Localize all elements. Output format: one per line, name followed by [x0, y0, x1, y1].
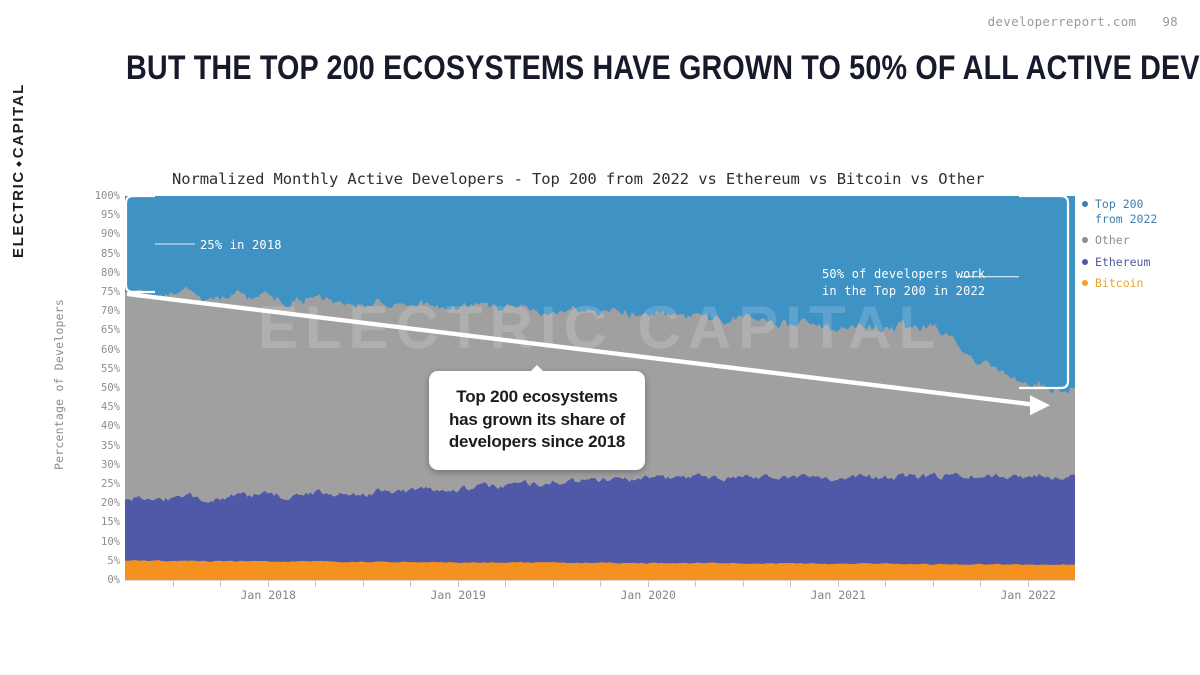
brand-name-left: ELECTRIC [10, 170, 27, 258]
x-axis-tickmarks [125, 581, 1075, 587]
annotation-50-percent-2022: 50% of developers work in the Top 200 in… [822, 266, 985, 301]
x-tick-label: Jan 2018 [241, 588, 296, 602]
legend-item-label: Other [1095, 233, 1130, 248]
legend-item-label: Top 200 from 2022 [1095, 197, 1157, 227]
y-tick-label: 100% [95, 190, 120, 202]
y-tick-label: 70% [101, 305, 120, 317]
y-tick-label: 5% [107, 555, 120, 567]
y-tick-label: 20% [101, 497, 120, 509]
page-title: BUT THE TOP 200 ECOSYSTEMS HAVE GROWN TO… [126, 51, 971, 85]
page-number: 98 [1162, 14, 1178, 29]
y-axis-tick-labels: 100%95%90%85%80%75%70%65%60%55%50%45%40%… [84, 196, 120, 580]
legend-item-label: Bitcoin [1095, 276, 1143, 291]
y-tick-label: 95% [101, 209, 120, 221]
y-tick-label: 65% [101, 324, 120, 336]
legend-swatch-dot-icon [1082, 259, 1088, 265]
x-tick-label: Jan 2019 [431, 588, 486, 602]
legend-swatch-dot-icon [1082, 280, 1088, 286]
chart-legend: Top 200 from 2022OtherEthereumBitcoin [1082, 197, 1198, 297]
y-tick-label: 0% [107, 574, 120, 586]
legend-item[interactable]: Top 200 from 2022 [1082, 197, 1198, 227]
legend-item[interactable]: Ethereum [1082, 255, 1198, 270]
legend-item-label: Ethereum [1095, 255, 1150, 270]
legend-swatch-dot-icon [1082, 201, 1088, 207]
callout-box: Top 200 ecosystems has grown its share o… [429, 371, 645, 470]
callout-line-1: Top 200 ecosystems [443, 386, 631, 409]
y-tick-label: 40% [101, 420, 120, 432]
y-tick-label: 60% [101, 344, 120, 356]
y-tick-label: 90% [101, 228, 120, 240]
y-tick-label: 45% [101, 401, 120, 413]
y-tick-label: 15% [101, 516, 120, 528]
legend-swatch-dot-icon [1082, 237, 1088, 243]
x-tick-label: Jan 2022 [1001, 588, 1056, 602]
brand-name-right: CAPITAL [10, 83, 27, 158]
y-tick-label: 10% [101, 536, 120, 548]
y-tick-label: 35% [101, 440, 120, 452]
legend-item[interactable]: Bitcoin [1082, 276, 1198, 291]
y-tick-label: 55% [101, 363, 120, 375]
header-bar: developerreport.com 98 [988, 14, 1178, 29]
brand-logo: ELECTRIC CAPITAL [10, 83, 27, 258]
x-tick-label: Jan 2020 [621, 588, 676, 602]
brand-diamond-icon [16, 161, 22, 167]
annotation-25-percent-2018: 25% in 2018 [200, 237, 282, 254]
callout-line-2: has grown its share of [443, 409, 631, 432]
y-tick-label: 75% [101, 286, 120, 298]
site-url: developerreport.com [988, 14, 1137, 29]
callout-line-3: developers since 2018 [443, 431, 631, 454]
y-tick-label: 30% [101, 459, 120, 471]
y-tick-label: 25% [101, 478, 120, 490]
x-tick-label: Jan 2021 [811, 588, 866, 602]
y-tick-label: 85% [101, 248, 120, 260]
y-axis-title: Percentage of Developers [52, 299, 66, 470]
y-tick-label: 80% [101, 267, 120, 279]
legend-item[interactable]: Other [1082, 233, 1198, 248]
chart-title: Normalized Monthly Active Developers - T… [172, 170, 984, 188]
y-tick-label: 50% [101, 382, 120, 394]
x-axis-tick-labels: Jan 2018Jan 2019Jan 2020Jan 2021Jan 2022 [125, 588, 1075, 610]
